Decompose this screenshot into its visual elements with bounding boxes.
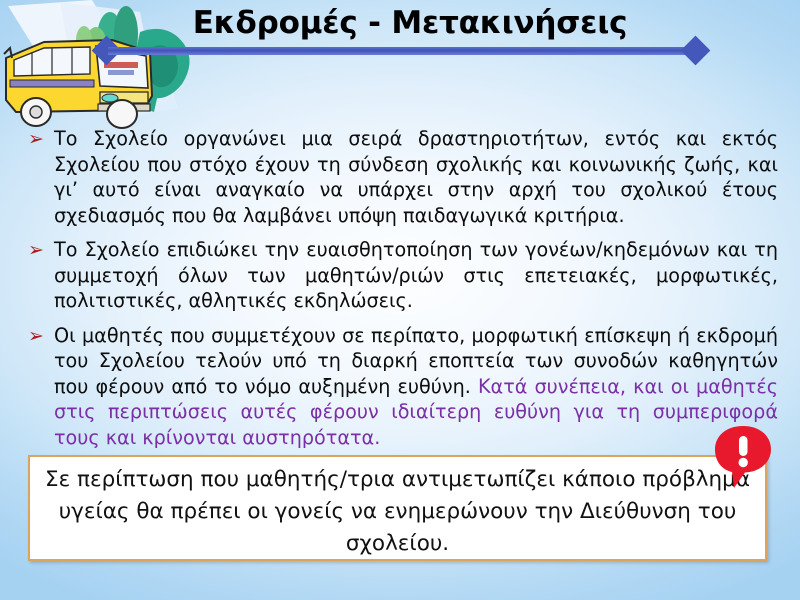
arrow-bullet-icon: ➢ xyxy=(28,324,50,349)
note-box: Σε περίπτωση που μαθητής/τρια αντιμετωπί… xyxy=(28,455,767,561)
list-item: ➢ Οι μαθητές που συμμετέχουν σε περίπατο… xyxy=(26,323,778,451)
exclamation-bubble-icon xyxy=(712,424,774,490)
divider-line xyxy=(108,47,694,55)
diamond-right-icon xyxy=(681,36,711,66)
header-artwork xyxy=(0,0,210,132)
page-title: Εκδρομές - Μετακινήσεις xyxy=(190,2,630,44)
slide-canvas: Εκδρομές - Μετακινήσεις ➢ Το Σχολείο οργ… xyxy=(0,0,800,600)
arrow-bullet-icon: ➢ xyxy=(28,127,50,152)
bullet-list: ➢ Το Σχολείο οργανώνει μια σειρά δραστηρ… xyxy=(26,126,778,450)
list-item-text: Το Σχολείο επιδιώκει την ευαισθητοποίηση… xyxy=(54,238,778,312)
list-item-text: Το Σχολείο οργανώνει μια σειρά δραστηριο… xyxy=(54,127,778,227)
list-item: ➢ Το Σχολείο οργανώνει μια σειρά δραστηρ… xyxy=(26,126,778,228)
school-bus-icon xyxy=(0,0,210,132)
header-divider xyxy=(96,40,706,62)
note-text: Σε περίπτωση που μαθητής/τρια αντιμετωπί… xyxy=(44,464,751,560)
list-item: ➢ Το Σχολείο επιδιώκει την ευαισθητοποίη… xyxy=(26,237,778,314)
arrow-bullet-icon: ➢ xyxy=(28,238,50,263)
